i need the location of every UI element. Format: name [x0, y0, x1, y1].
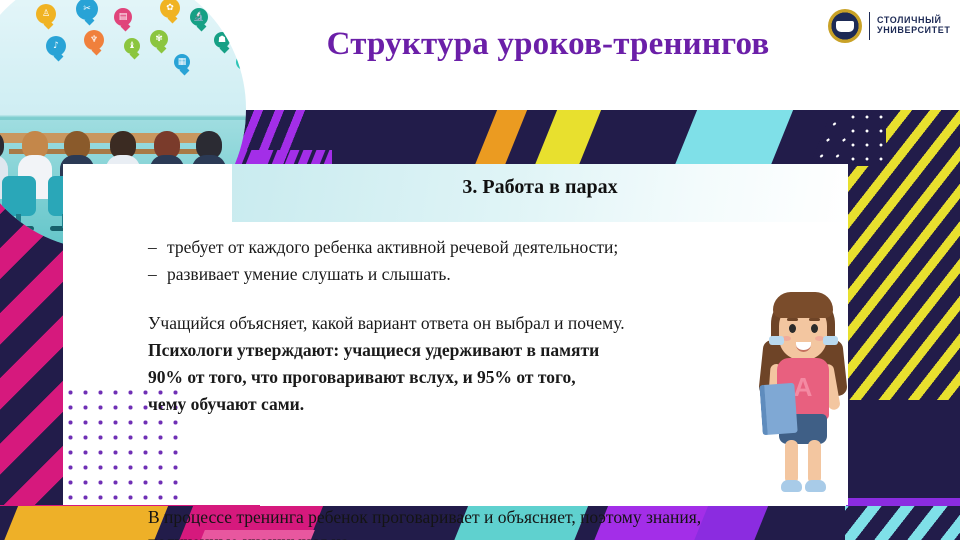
paragraph-line-1: Учащийся объясняет, какой вариант ответа… — [148, 310, 748, 337]
bullet-list: – требует от каждого ребенка активной ре… — [148, 234, 748, 288]
girl-hair-bow-left — [769, 336, 784, 345]
girl-leg-left — [785, 440, 798, 484]
paragraph-line-4: чему обучают сами. — [148, 391, 748, 418]
girl-eyebrow-left — [787, 318, 798, 321]
speech-bubble-icon: ♝ — [124, 38, 140, 54]
office-chair — [2, 176, 36, 216]
speech-bubble-icon: ✾ — [150, 30, 168, 48]
university-logo: СТОЛИЧНЫЙ УНИВЕРСИТЕТ — [828, 6, 956, 46]
logo-line-2: УНИВЕРСИТЕТ — [877, 26, 950, 36]
logo-divider — [869, 12, 870, 40]
speech-bubble-icon: ⚙ — [220, 4, 238, 22]
speech-bubble-icon: ✿ — [160, 0, 180, 18]
paragraph-line-2: Психологи утверждают: учащиеся удерживаю… — [148, 337, 748, 364]
speech-bubble-icon: ♆ — [84, 30, 104, 50]
university-emblem-icon — [828, 9, 862, 43]
slide-canvas: ♙✂▤♪♆♝✿🔬✾⚙☗✎▦▣ Структура уроков-тренинго… — [0, 0, 960, 540]
person-head — [0, 131, 4, 159]
girl-leg-right — [808, 440, 821, 484]
speech-bubble-icon: 🔬 — [190, 8, 208, 26]
speech-bubble-icon: ▤ — [114, 8, 132, 26]
right-dotted-decor — [846, 110, 886, 166]
speech-bubble-icon: ♙ — [36, 4, 56, 24]
body-text-block: – требует от каждого ребенка активной ре… — [148, 234, 748, 418]
girl-shoe-left — [781, 480, 802, 492]
girl-hair-bow-right — [823, 336, 838, 345]
list-item: – требует от каждого ребенка активной ре… — [148, 234, 748, 261]
bullet-text: развивает умение слушать и слышать. — [167, 261, 451, 288]
overflow-text: В процессе тренинга ребенок проговаривае… — [148, 505, 788, 540]
girl-eye-left — [789, 324, 796, 333]
speech-bubble-icon: ▣ — [236, 54, 246, 70]
list-item: – развивает умение слушать и слышать. — [148, 261, 748, 288]
page-title: Структура уроков-тренингов — [248, 26, 848, 63]
speech-bubble-icon: ✂ — [76, 0, 98, 20]
girl-shoe-right — [805, 480, 826, 492]
bullet-text: требует от каждого ребенка активной рече… — [167, 234, 618, 261]
speech-bubble-icon: ☗ — [214, 32, 230, 48]
speech-bubble-icon: ▦ — [174, 54, 190, 70]
speech-bubble-icon: ♪ — [46, 36, 66, 56]
bullet-dash: – — [148, 261, 157, 288]
girl-book — [759, 383, 797, 435]
bottom-yellow-segment — [0, 506, 171, 540]
right-lower-navy-block — [846, 400, 960, 504]
paragraph-block: Учащийся объясняет, какой вариант ответа… — [148, 310, 748, 418]
girl-eye-right — [811, 324, 818, 333]
section-subtitle: 3. Работа в парах — [232, 176, 848, 199]
right-purple-accent-line — [846, 498, 960, 506]
paragraph-line-3: 90% от того, что проговаривают вслух, и … — [148, 364, 748, 391]
girl-eyebrow-right — [809, 318, 820, 321]
bottom-cyan-stripes-decor — [845, 506, 960, 540]
bullet-dash: – — [148, 234, 157, 261]
student-girl-illustration: A — [755, 288, 853, 503]
girl-fringe — [773, 292, 833, 318]
